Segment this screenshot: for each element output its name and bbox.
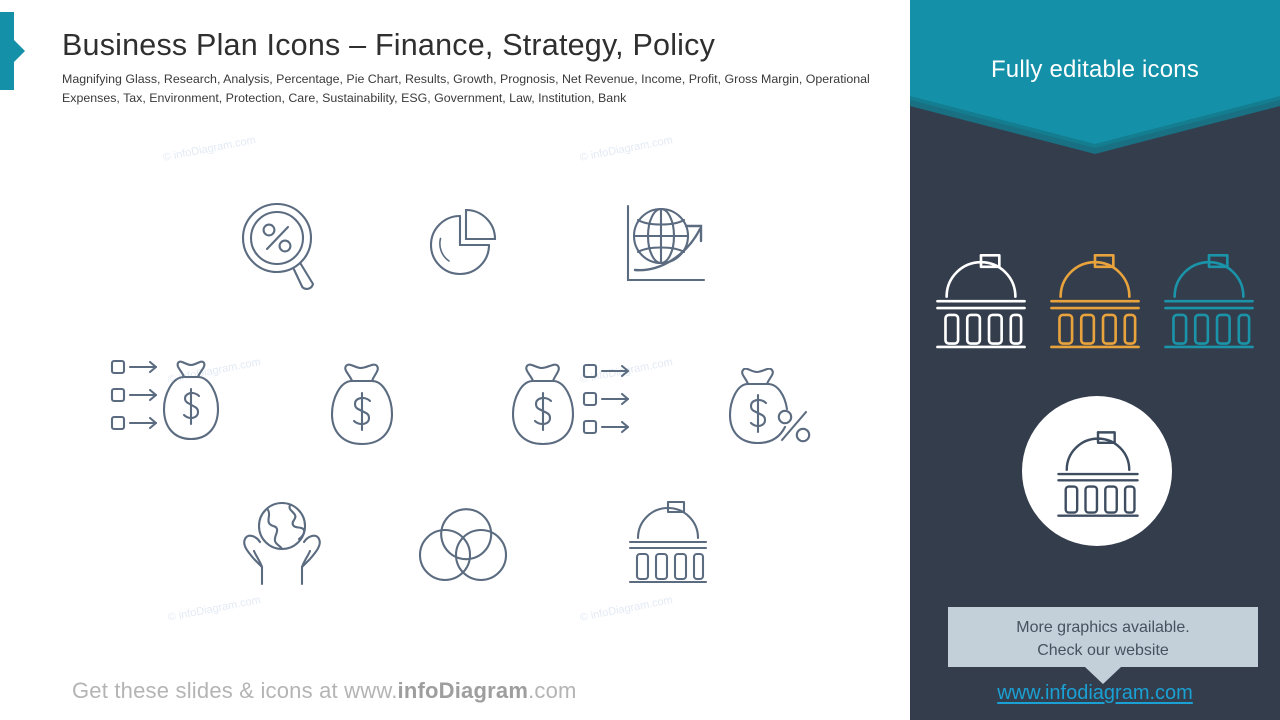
bank-building-icon[interactable] xyxy=(620,498,716,584)
callout-line-2: Check our website xyxy=(948,639,1258,662)
callout-line-1: More graphics available. xyxy=(948,616,1258,639)
footer-text: Get these slides & icons at www.infoDiag… xyxy=(72,678,577,704)
magnifier-percent-icon[interactable] xyxy=(237,198,327,290)
venn-three-circles-icon[interactable] xyxy=(415,500,511,586)
bank-icon-teal[interactable] xyxy=(1154,250,1264,355)
watermark: © infoDiagram.com xyxy=(167,594,262,624)
footer-brand: infoDiagram xyxy=(398,678,529,703)
accent-bar-notch-icon xyxy=(14,40,25,62)
infodiagram-link[interactable]: www.infodiagram.com xyxy=(910,682,1280,705)
money-bag-icon[interactable] xyxy=(325,357,409,449)
watermark: © infoDiagram.com xyxy=(162,134,257,164)
globe-growth-icon[interactable] xyxy=(618,198,716,294)
bank-icon-row xyxy=(910,250,1280,360)
money-bag-to-outputs-icon[interactable] xyxy=(508,357,638,449)
accent-bar xyxy=(0,12,14,90)
bank-icon-orange[interactable] xyxy=(1040,250,1150,355)
watermark: © infoDiagram.com xyxy=(579,594,674,624)
page-title: Business Plan Icons – Finance, Strategy,… xyxy=(62,28,715,62)
bank-icon-white[interactable] xyxy=(926,250,1036,355)
slide-canvas: Business Plan Icons – Finance, Strategy,… xyxy=(0,0,1280,720)
footer-prefix: Get these slides & icons at www. xyxy=(72,678,398,703)
inputs-to-money-bag-icon[interactable] xyxy=(108,355,240,449)
money-bag-percent-icon[interactable] xyxy=(727,368,815,450)
pie-chart-icon[interactable] xyxy=(418,198,508,288)
watermark: © infoDiagram.com xyxy=(579,134,674,164)
bank-icon-circle-badge[interactable] xyxy=(1022,396,1172,546)
footer-suffix: .com xyxy=(528,678,576,703)
hands-globe-icon[interactable] xyxy=(232,496,332,588)
callout-text: More graphics available. Check our websi… xyxy=(948,616,1258,662)
page-subtitle: Magnifying Glass, Research, Analysis, Pe… xyxy=(62,70,914,108)
panel-headline: Fully editable icons xyxy=(910,56,1280,84)
more-graphics-callout: More graphics available. Check our websi… xyxy=(948,607,1258,667)
